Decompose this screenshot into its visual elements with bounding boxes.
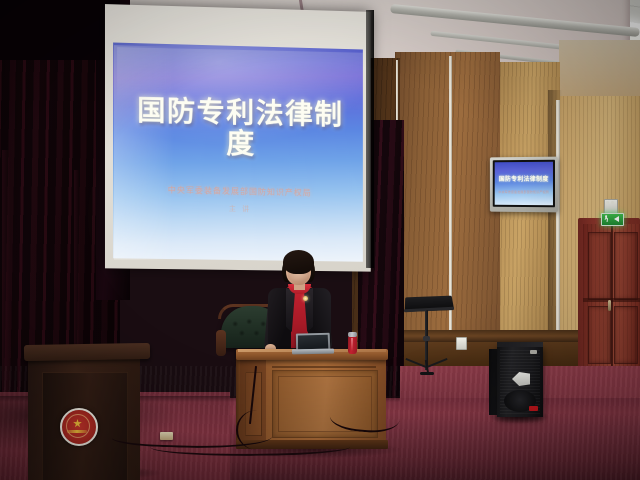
curtain-top-shadow [0,0,120,60]
door-panel [588,232,611,300]
wall-power-outlet [456,337,467,350]
door-panel [588,306,611,364]
lectern-groove [272,366,376,368]
emergency-lamp-icon [611,201,614,204]
upper-right-wall [559,40,640,98]
pa-speaker-logo [529,406,538,411]
wall-trim-strip [556,100,560,355]
door-panel [614,232,638,300]
laptop-keyboard-base[interactable] [292,349,334,355]
pa-speaker-top [497,342,543,347]
floor-cable-plate [160,432,173,440]
thermos-cap [348,332,357,337]
music-stand-knob [423,336,430,341]
armchair-arm [216,330,226,356]
wall-lcd-slide-subtitle: 中央军委装备发展部国防知识产权局 [497,190,551,194]
presenter-hair [283,250,314,274]
wall-lcd-slide-title: 国防专利法律制度 [497,174,551,183]
emblem-banner [67,430,87,433]
curtain-highlight [2,150,10,400]
laptop-display[interactable] [298,335,328,350]
door-handle[interactable] [608,300,611,311]
door-center-split [611,224,613,368]
presenter-brooch [303,296,308,301]
emergency-lamp-icon [606,201,609,204]
slide-title: 国防专利法律制度 [131,95,349,161]
emergency-exit-sign [601,213,624,226]
lecture-hall-photo: 国防专利法律制度 中央军委装备发展部国防知识产权局 主 讲 国防专利法律制度 中… [0,0,640,480]
screen-right-shadow [366,10,374,268]
emblem-inner-ring [66,414,90,438]
door-panel [614,306,638,364]
pa-speaker-badge [530,350,537,354]
wall-trim-strip [449,56,452,356]
exit-arrow-icon [614,216,619,222]
speaking-podium-top [24,343,150,361]
thermos-highlight [351,338,353,351]
floor-cable [236,410,278,450]
music-stand-foot [420,372,434,375]
wall-lcd-screen [495,162,553,206]
